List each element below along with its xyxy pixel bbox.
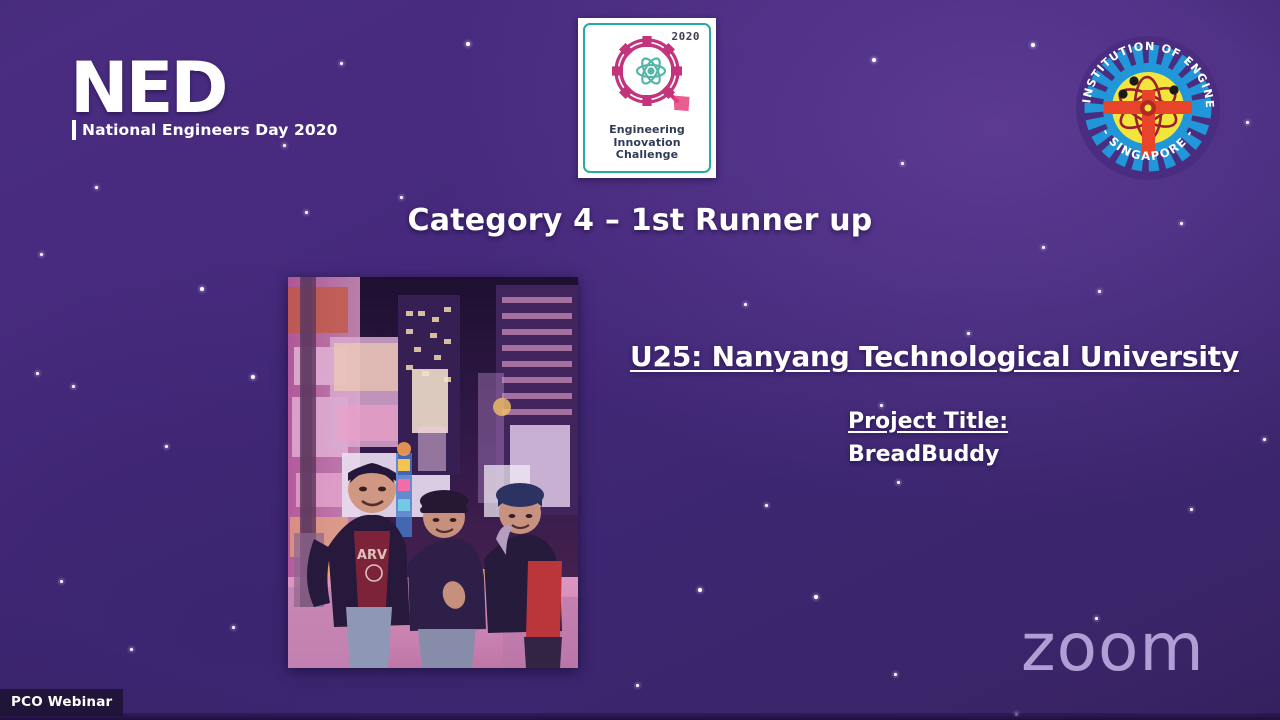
webinar-slide: NED National Engineers Day 2020 2020 [0,0,1280,720]
star-dot [340,62,343,65]
star-dot [880,404,883,407]
zoom-watermark: zoom [1021,615,1205,681]
eic-line-1: Engineering [609,124,685,137]
star-dot [1042,246,1045,249]
star-dot [894,673,897,676]
institution-of-engineers-singapore-logo: THE INSTITUTION OF ENGINEERS - SINGAPORE… [1068,28,1228,188]
star-dot [1031,43,1035,47]
star-dot [466,42,470,46]
star-dot [897,481,900,484]
star-dot [967,332,970,335]
star-dot [400,196,403,199]
star-dot [901,162,904,165]
star-dot [72,385,75,388]
page-title: Category 4 – 1st Runner up [0,203,1280,238]
star-dot [200,287,204,291]
star-dot [95,186,98,189]
ned-wordmark: NED [70,52,280,124]
star-dot [765,504,768,507]
star-dot [636,684,639,687]
star-dot [36,372,39,375]
bottom-strip [0,713,1280,720]
university-name: U25: Nanyang Technological University [630,340,1239,373]
gear-atom-magnifier-icon [585,27,723,123]
ned-tagline: National Engineers Day 2020 [82,121,338,139]
participant-name-badge: PCO Webinar [0,689,123,716]
star-dot [60,580,63,583]
star-dot [1190,508,1193,511]
star-dot [251,375,255,379]
eic-name: Engineering Innovation Challenge [609,124,685,162]
star-dot [232,626,235,629]
star-dot [1263,438,1266,441]
star-dot [744,303,747,306]
star-dot [1246,121,1249,124]
ned-bar-icon [72,120,76,140]
star-dot [165,445,168,448]
team-photo: ARV [288,277,578,668]
star-dot [872,58,876,62]
ned-wordmark-text: NED [70,47,226,129]
star-dot [698,588,702,592]
star-dot [130,648,133,651]
project-title-value: BreadBuddy [848,442,1008,467]
ned-logo: NED National Engineers Day 2020 [70,52,280,148]
star-dot [283,144,286,147]
star-dot [40,253,43,256]
eic-line-3: Challenge [609,149,685,162]
eic-artwork [585,25,709,123]
project-title-label: Project Title: [848,409,1008,434]
star-dot [1098,290,1101,293]
ned-dots-icon [180,64,202,72]
engineering-innovation-challenge-logo: 2020 [578,18,716,178]
ned-tagline-row: National Engineers Day 2020 [72,120,338,140]
project-info: Project Title: BreadBuddy [848,409,1008,467]
star-dot [814,595,818,599]
